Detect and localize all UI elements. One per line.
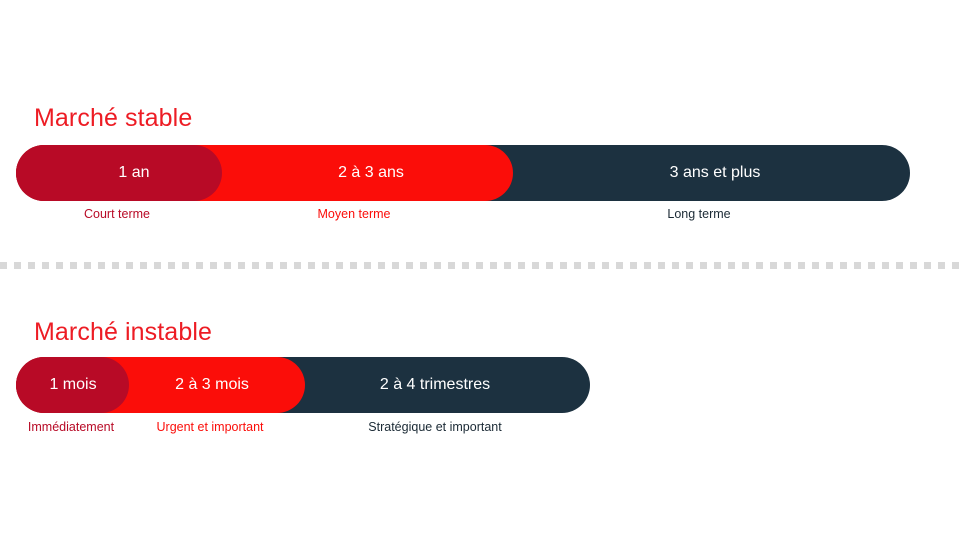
segment-label: 2 à 4 trimestres [380,376,490,394]
section-title-instable: Marché instable [34,318,212,347]
segment-label: 2 à 3 ans [338,164,404,182]
segment-label: 2 à 3 mois [175,376,249,394]
timeline-segment-immediat[interactable]: 1 mois [16,357,129,413]
segment-label: 3 ans et plus [670,164,761,182]
caption-immediatement: Immédiatement [28,420,114,434]
slide-canvas: Marché stable 3 ans et plus 2 à 3 ans 1 … [0,0,960,540]
segment-label: 1 an [118,164,149,182]
timeline-instable: 2 à 4 trimestres 2 à 3 mois 1 mois [16,357,590,413]
caption-moyen-terme: Moyen terme [318,207,391,221]
caption-row-instable: Immédiatement Urgent et important Straté… [16,420,590,440]
caption-urgent-important: Urgent et important [157,420,264,434]
section-divider [0,262,960,269]
caption-long-terme: Long terme [667,207,730,221]
section-title-stable: Marché stable [34,104,192,133]
timeline-segment-court-terme[interactable]: 1 an [16,145,222,201]
timeline-stable: 3 ans et plus 2 à 3 ans 1 an [16,145,910,201]
caption-row-stable: Court terme Moyen terme Long terme [16,207,910,227]
segment-label: 1 mois [49,376,96,394]
caption-strategique-important: Stratégique et important [368,420,501,434]
caption-court-terme: Court terme [84,207,150,221]
